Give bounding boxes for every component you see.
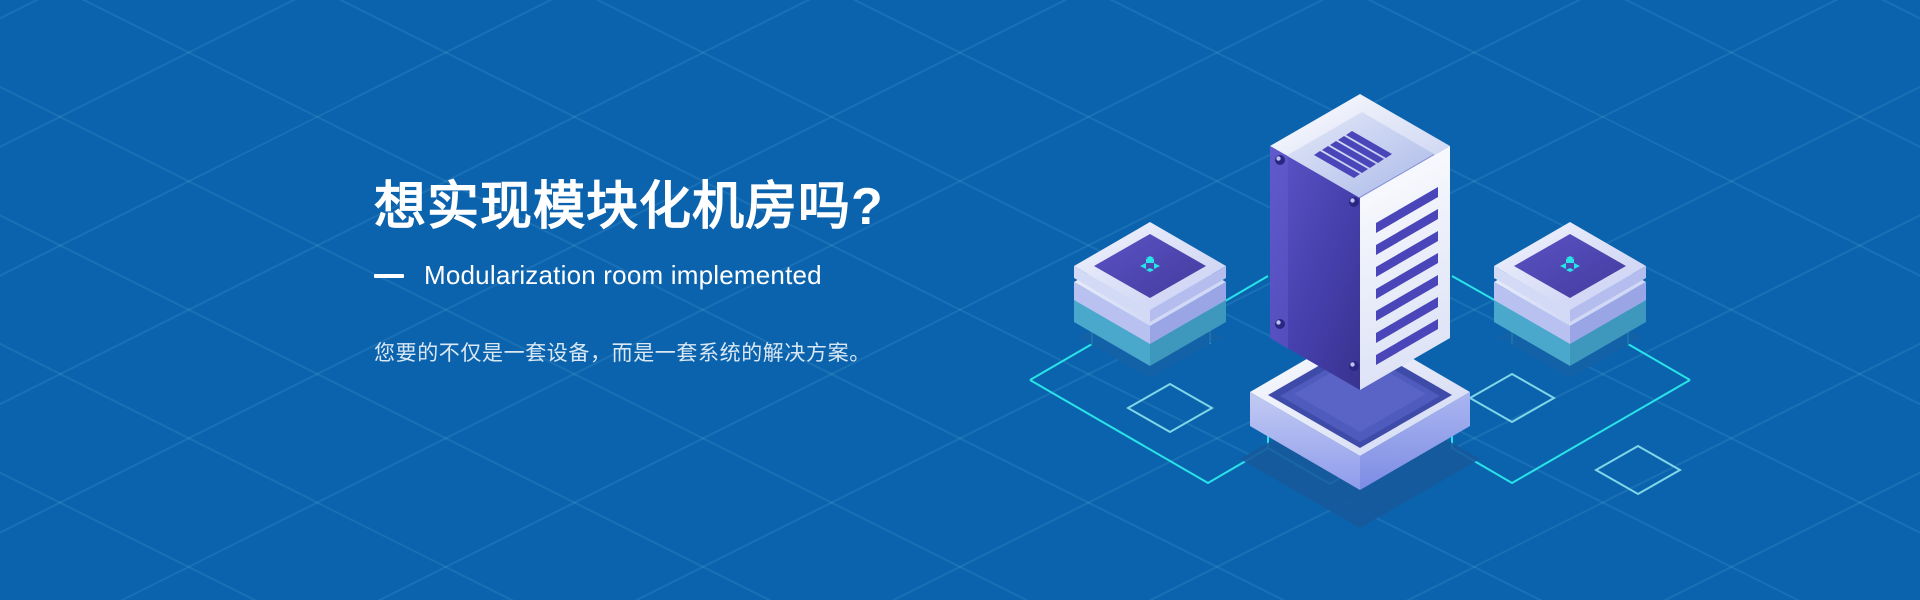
- hero-banner: 想实现模块化机房吗? Modularization room implement…: [0, 0, 1920, 600]
- illustration-svg: [1000, 60, 1720, 540]
- subtitle-text: Modularization room implemented: [424, 260, 822, 291]
- server-rack: [1270, 94, 1450, 390]
- dash-accent-icon: [374, 274, 404, 278]
- isometric-illustration: [1000, 60, 1720, 540]
